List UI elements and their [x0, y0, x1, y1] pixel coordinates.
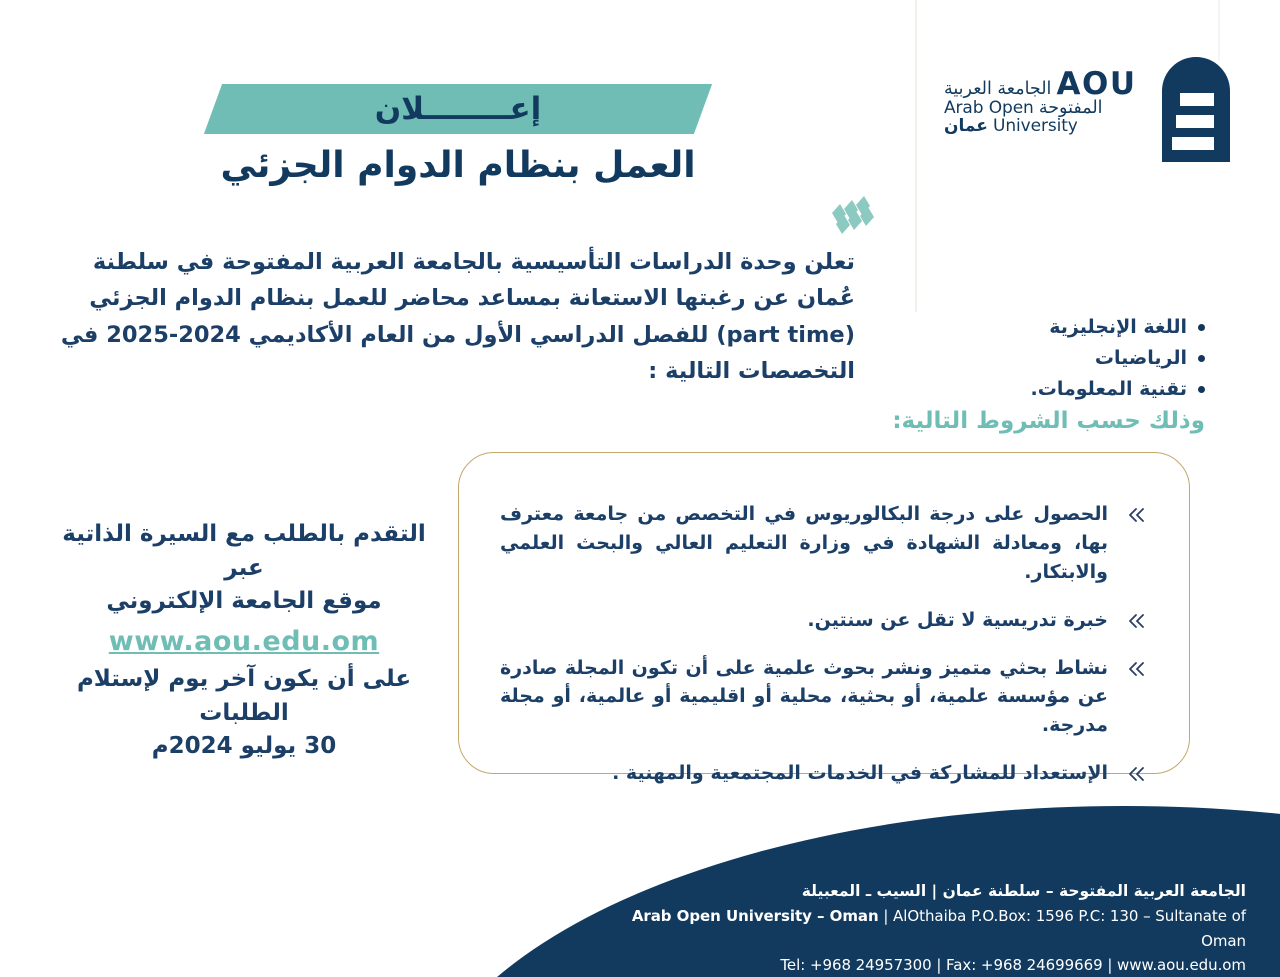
announcement-ribbon-label: إعــــــــلان: [213, 84, 703, 134]
list-item: نشاط بحثي متميز ونشر بحوث علمية على أن ت…: [500, 654, 1150, 741]
decorative-vertical-rule: [915, 0, 917, 312]
logo-branch-arabic: عمان: [944, 116, 988, 136]
condition-text: خبرة تدريسية لا تقل عن سنتين.: [807, 609, 1108, 631]
condition-text: نشاط بحثي متميز ونشر بحوث علمية على أن ت…: [500, 657, 1108, 737]
aou-logo-mark-icon: [1162, 57, 1230, 162]
double-chevron-icon: [1126, 610, 1146, 628]
footer-contact-block: الجامعة العربية المفتوحة – سلطنة عمان | …: [610, 879, 1246, 977]
apply-line-2: موقع الجامعة الإلكتروني: [48, 585, 440, 619]
list-item: اللغة الإنجليزية: [940, 312, 1205, 343]
double-chevron-icon: [1126, 658, 1146, 676]
footer-contact-line: Tel: +968 24957300 | Fax: +968 24699669 …: [610, 953, 1246, 977]
apply-line-3: على أن يكون آخر يوم لإستلام الطلبات: [48, 663, 440, 730]
conditions-list: الحصول على درجة البكالوريوس في التخصص من…: [500, 500, 1150, 807]
footer-address-rest: | AlOthaiba P.O.Box: 1596 P.C: 130 – Sul…: [879, 907, 1246, 950]
decorative-vertical-rule-secondary: [1218, 0, 1220, 60]
list-item: تقنية المعلومات.: [940, 374, 1205, 405]
condition-text: الإستعداد للمشاركة في الخدمات المجتمعية …: [612, 762, 1108, 784]
intro-paragraph: تعلن وحدة الدراسات التأسيسية بالجامعة ال…: [60, 244, 855, 390]
leaf-ornament-icon: [822, 193, 884, 245]
double-chevron-icon: [1126, 763, 1146, 781]
apply-instructions: التقدم بالطلب مع السيرة الذاتية عبر موقع…: [48, 518, 440, 764]
list-item: خبرة تدريسية لا تقل عن سنتين.: [500, 606, 1150, 635]
double-chevron-icon: [1126, 504, 1146, 522]
footer-address-english: Arab Open University – Oman | AlOthaiba …: [610, 904, 1246, 954]
page-title: العمل بنظام الدوام الجزئي: [163, 145, 753, 186]
footer-university-name-en: Arab Open University – Oman: [632, 907, 879, 925]
apply-line-1: التقدم بالطلب مع السيرة الذاتية عبر: [48, 518, 440, 585]
list-item: الرياضيات: [940, 343, 1205, 374]
poster-canvas: AOU الجامعة العربية المفتوحة Arab Open U…: [0, 0, 1280, 977]
list-item: الحصول على درجة البكالوريوس في التخصص من…: [500, 500, 1150, 587]
university-website-link[interactable]: www.aou.edu.om: [48, 622, 440, 661]
specializations-list: اللغة الإنجليزية الرياضيات تقنية المعلوم…: [940, 312, 1205, 404]
aou-logo-text: AOU الجامعة العربية المفتوحة Arab Open U…: [944, 57, 1162, 135]
conditions-heading: وذلك حسب الشروط التالية:: [880, 408, 1205, 434]
application-deadline: 30 يوليو 2024م: [48, 730, 440, 764]
footer-address-arabic: الجامعة العربية المفتوحة – سلطنة عمان | …: [610, 879, 1246, 904]
aou-logo: AOU الجامعة العربية المفتوحة Arab Open U…: [944, 57, 1244, 177]
logo-acronym: AOU: [1057, 66, 1137, 102]
list-item: الإستعداد للمشاركة في الخدمات المجتمعية …: [500, 759, 1150, 788]
condition-text: الحصول على درجة البكالوريوس في التخصص من…: [500, 503, 1108, 583]
